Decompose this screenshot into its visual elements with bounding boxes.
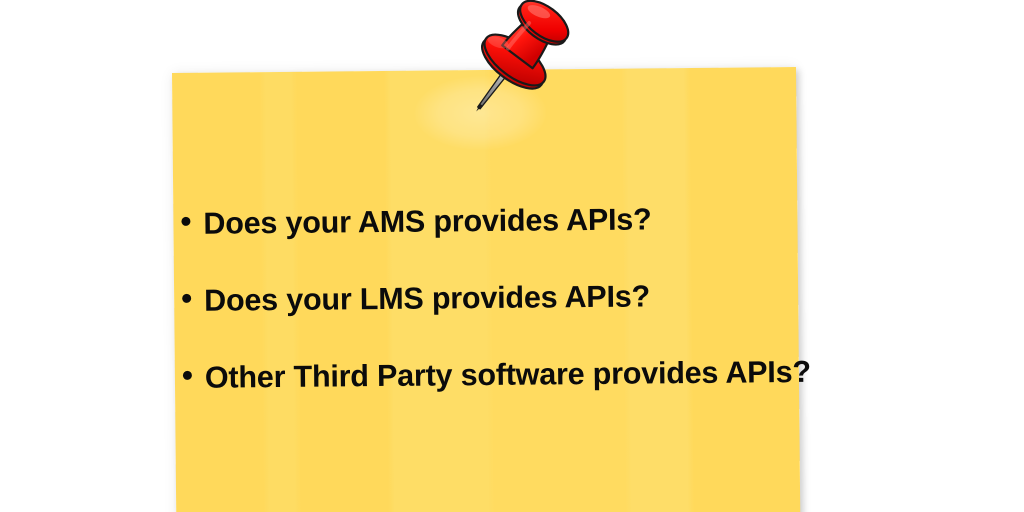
bullet-icon	[182, 294, 191, 303]
list-item-label: Other Third Party software provides APIs…	[205, 355, 811, 396]
list-item-label: Does your AMS provides APIs?	[203, 202, 651, 241]
sticky-note: Does your AMS provides APIs? Does your L…	[172, 67, 800, 512]
slide-canvas: Does your AMS provides APIs? Does your L…	[0, 0, 1024, 512]
list-item: Does your LMS provides APIs?	[182, 279, 650, 318]
list-item-label: Does your LMS provides APIs?	[204, 279, 650, 318]
list-item: Other Third Party software provides APIs…	[183, 355, 811, 396]
question-list: Does your AMS provides APIs? Does your L…	[172, 67, 796, 73]
pin-glow	[414, 75, 547, 150]
bullet-icon	[183, 371, 192, 380]
bullet-icon	[181, 217, 190, 226]
list-item: Does your AMS provides APIs?	[181, 202, 651, 242]
